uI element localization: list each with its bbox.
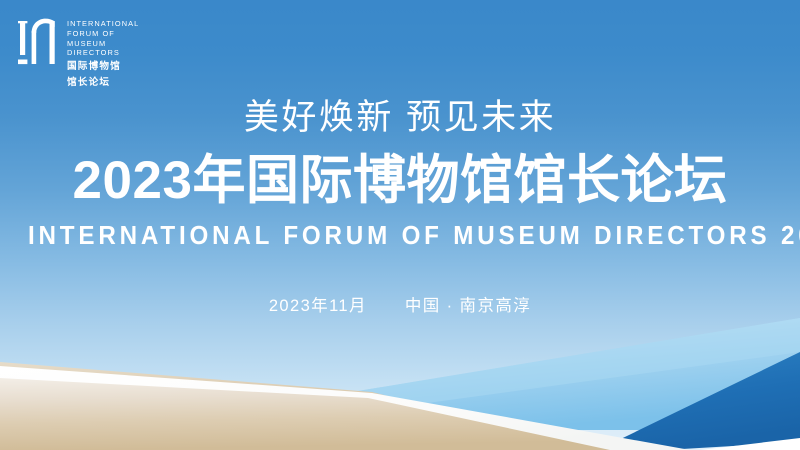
- event-location: 中国 · 南京高淳: [405, 297, 531, 315]
- subtitle-english: INTERNATIONAL FORUM OF MUSEUM DIRECTORS …: [28, 219, 772, 251]
- ifmd-monogram-icon: [18, 14, 58, 70]
- event-date: 2023年11月: [269, 297, 367, 315]
- page-title: 2023年国际博物馆馆长论坛: [0, 150, 800, 212]
- logo-line-cn-primary: 国际博物馆: [67, 61, 139, 73]
- event-logo: INTERNATIONAL FORUM OF MUSEUM DIRECTORS …: [18, 14, 139, 89]
- conference-poster: INTERNATIONAL FORUM OF MUSEUM DIRECTORS …: [0, 0, 800, 450]
- logo-line-directors: DIRECTORS: [67, 48, 139, 58]
- logo-line-museum: MUSEUM: [67, 39, 139, 49]
- logo-text-block: INTERNATIONAL FORUM OF MUSEUM DIRECTORS …: [67, 14, 139, 89]
- logo-line-cn-secondary: 馆长论坛: [67, 77, 139, 89]
- event-meta: 2023年11月 中国 · 南京高淳: [0, 294, 800, 318]
- logo-line-forum-of: FORUM OF: [67, 29, 139, 39]
- tagline: 美好焕新 预见未来: [0, 96, 800, 140]
- logo-line-international: INTERNATIONAL: [67, 19, 139, 29]
